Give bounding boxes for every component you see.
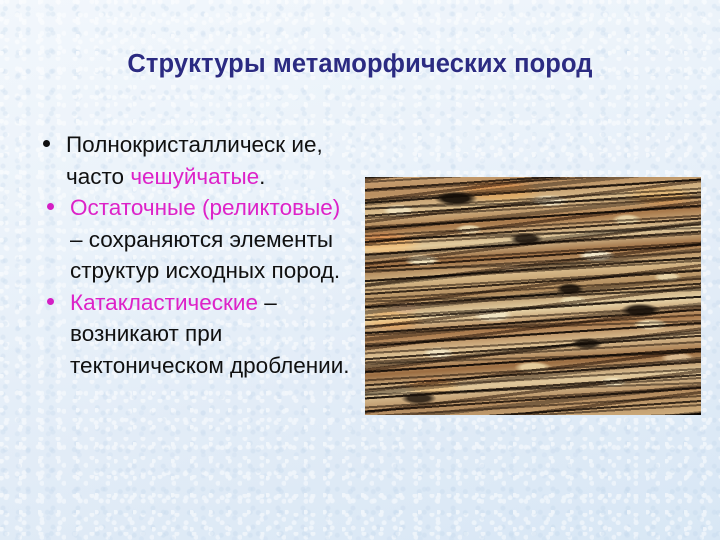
bullet-marker-icon — [43, 140, 50, 147]
text-segment: . — [259, 164, 265, 189]
slide: Структуры метаморфических пород Полнокри… — [0, 0, 720, 540]
list-item-text: Полнокристаллическ ие, часто чешуйчатые. — [66, 129, 352, 192]
bullet-marker-icon — [47, 203, 54, 210]
list-item: Остаточные (реликтовые) – сохраняются эл… — [30, 192, 352, 287]
list-item-text: Остаточные (реликтовые) – сохраняются эл… — [70, 192, 352, 287]
rock-photo — [365, 177, 701, 415]
text-segment-accent: Остаточные (реликтовые) — [70, 195, 340, 220]
list-item-text: Катакластические – возникают при тектони… — [70, 287, 352, 382]
list-item: Катакластические – возникают при тектони… — [30, 287, 352, 382]
page-title: Структуры метаморфических пород — [38, 50, 682, 79]
text-segment: – сохраняются элементы структур исходных… — [70, 227, 340, 284]
text-segment-accent: Катакластические — [70, 290, 258, 315]
bullet-marker-icon — [47, 298, 54, 305]
bullet-list: Полнокристаллическ ие, часто чешуйчатые.… — [30, 129, 352, 381]
text-segment-accent: чешуйчатые — [130, 164, 259, 189]
list-item: Полнокристаллическ ие, часто чешуйчатые. — [30, 129, 352, 192]
rock-photo-texture — [365, 177, 701, 415]
